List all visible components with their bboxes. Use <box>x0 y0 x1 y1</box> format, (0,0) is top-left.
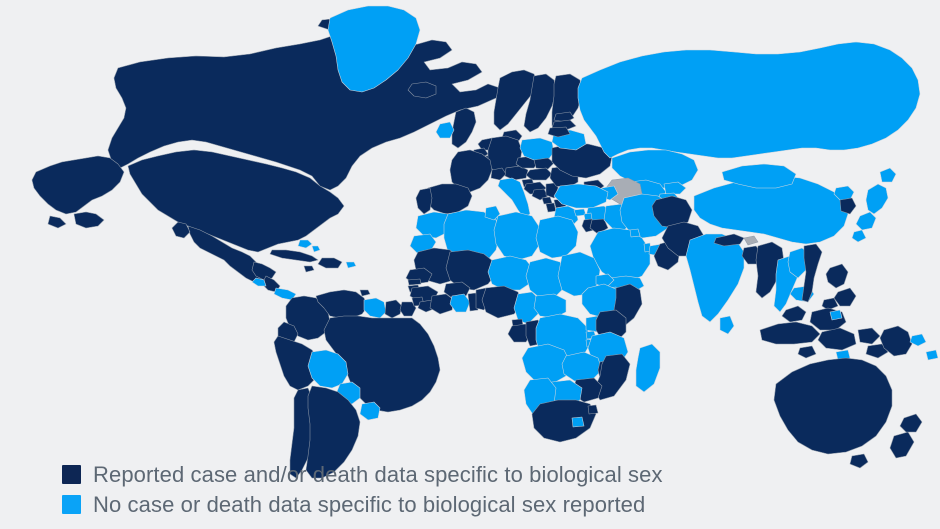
legend-swatch-not-reported <box>62 495 81 514</box>
map-legend: Reported case and/or death data specific… <box>62 462 663 517</box>
legend-item-reported: Reported case and/or death data specific… <box>62 462 663 487</box>
country-russian-federation[interactable] <box>578 42 920 158</box>
world-choropleth-map <box>0 0 940 529</box>
country-lesotho[interactable] <box>572 417 584 427</box>
country-kuwait[interactable] <box>630 229 640 237</box>
legend-label-not-reported: No case or death data specific to biolog… <box>93 492 645 517</box>
legend-label-reported: Reported case and/or death data specific… <box>93 462 663 487</box>
world-map-container <box>0 0 940 529</box>
legend-swatch-reported <box>62 465 81 484</box>
country-albania[interactable] <box>546 203 556 212</box>
country-fiji[interactable] <box>926 350 938 360</box>
country-brunei-darussalam[interactable] <box>830 310 842 320</box>
country-hungary[interactable] <box>526 168 552 180</box>
country-eswatini[interactable] <box>588 405 598 414</box>
country-gambia[interactable] <box>408 279 421 285</box>
country-montenegro[interactable] <box>542 197 552 204</box>
country-poland[interactable] <box>520 138 554 160</box>
legend-item-not-reported: No case or death data specific to biolog… <box>62 492 663 517</box>
